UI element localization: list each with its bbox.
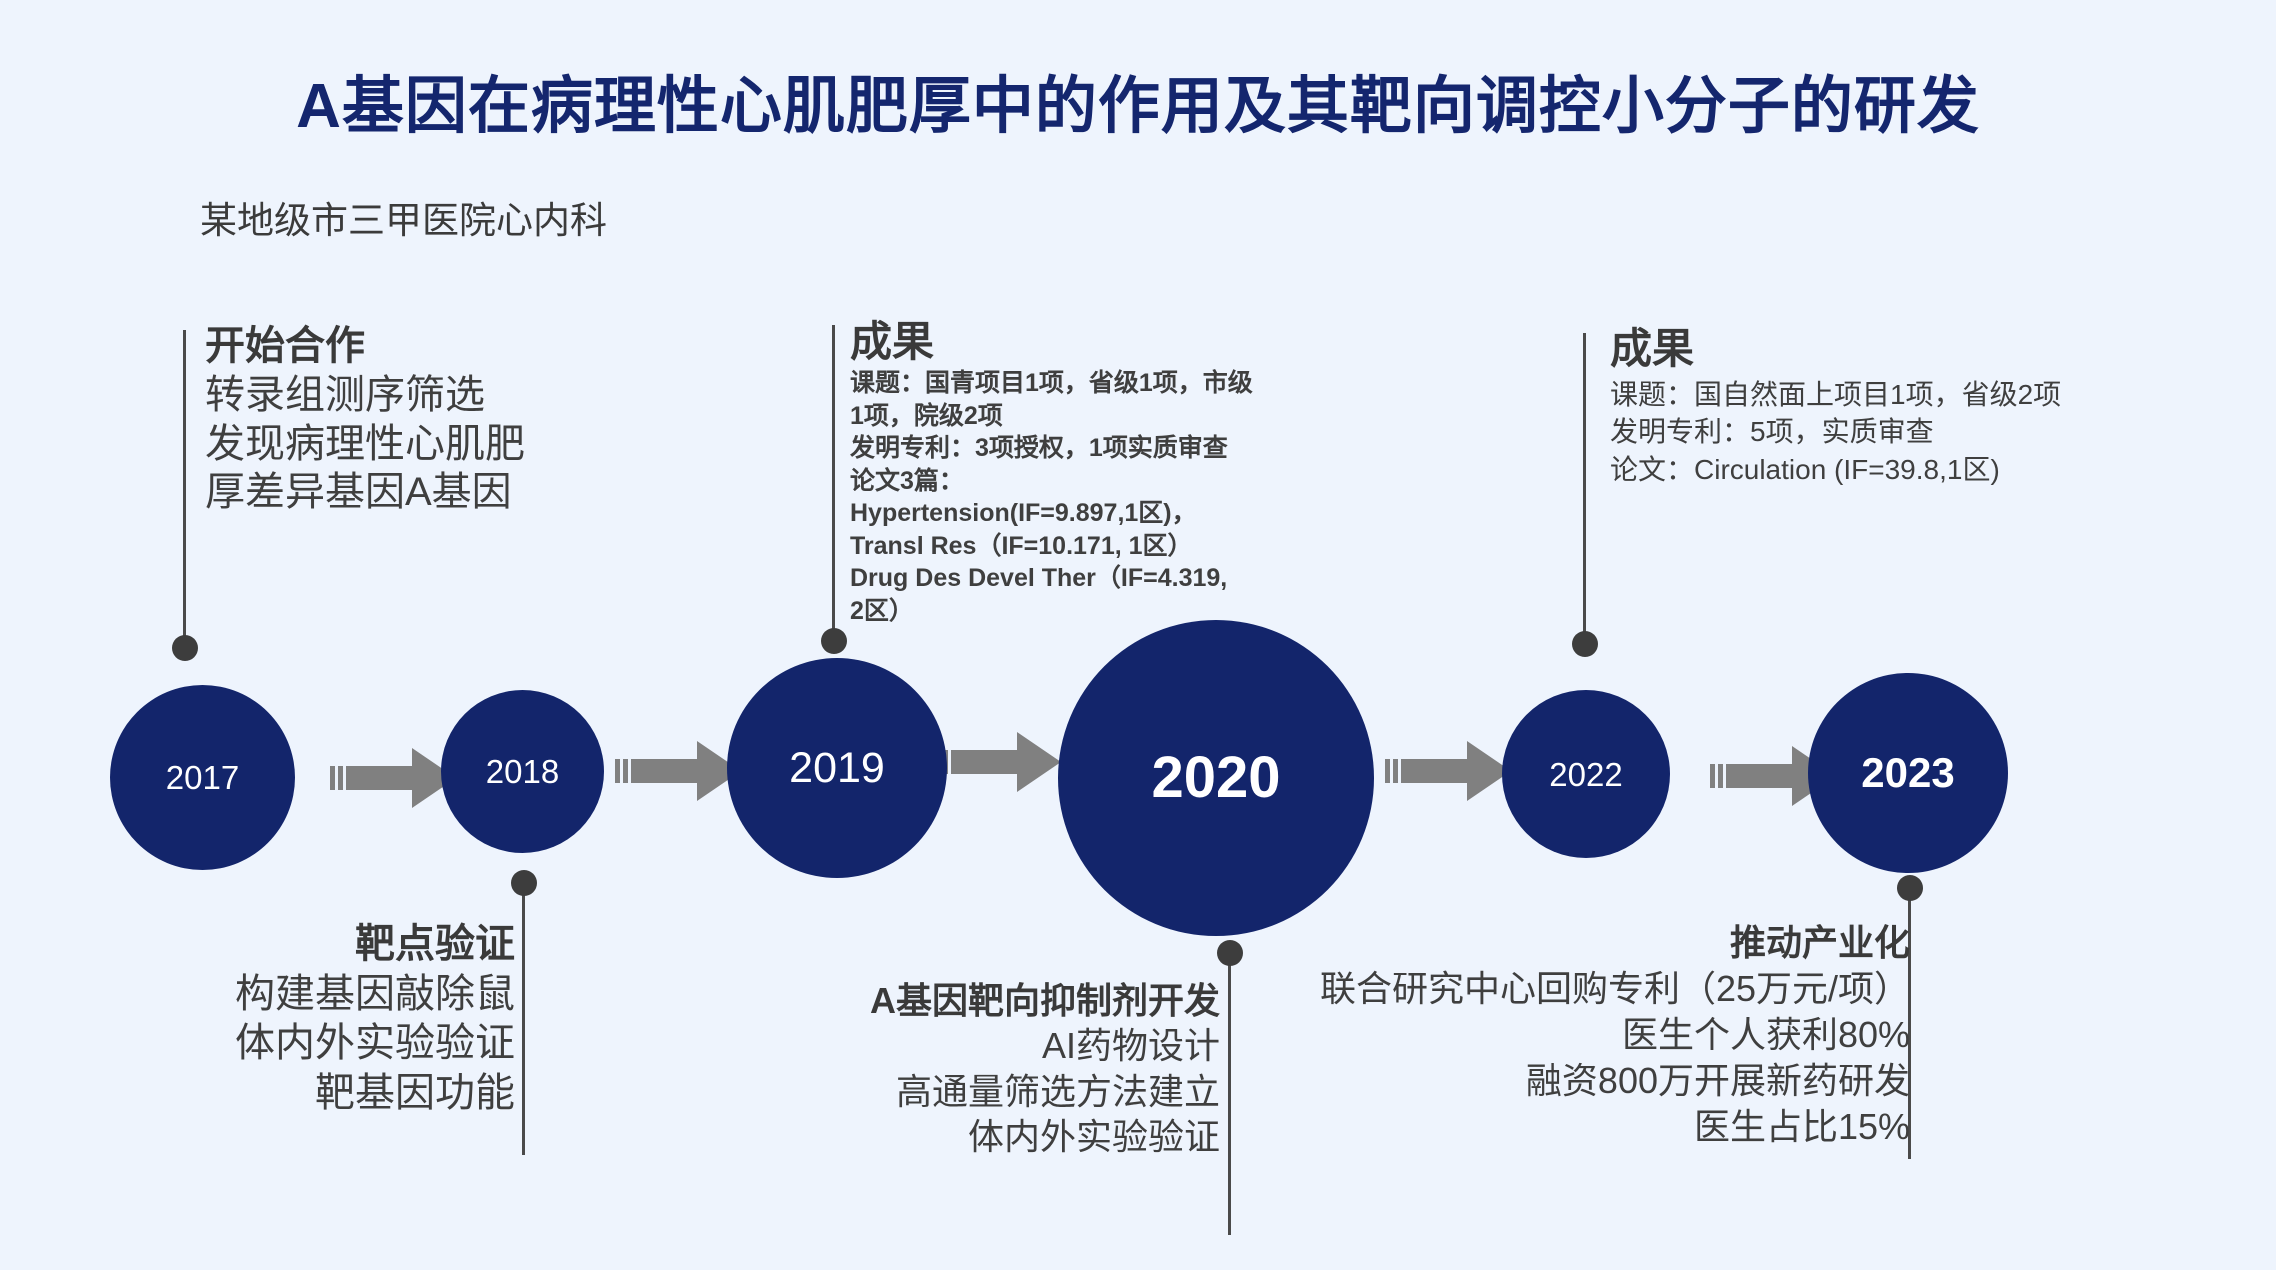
connector-dot xyxy=(821,628,847,654)
right-arrow-icon xyxy=(615,735,745,812)
callout-title: 成果 xyxy=(1610,325,2061,374)
callout-line: 发明专利：5项，实质审查 xyxy=(1610,413,2061,451)
right-arrow-icon xyxy=(1385,735,1515,812)
callout-line: 1项，院级2项 xyxy=(850,400,1253,433)
callout-line: Drug Des Devel Ther（IF=4.319, xyxy=(850,562,1253,595)
page-title: A基因在病理性心肌肥厚中的作用及其靶向调控小分子的研发 xyxy=(0,55,2276,145)
timeline-node-2022[interactable]: 2022 xyxy=(1502,690,1670,858)
callout-2017: 开始合作 转录组测序筛选 发现病理性心肌肥 厚差异基因A基因 xyxy=(205,322,525,517)
year-label: 2018 xyxy=(486,755,559,788)
callout-body: 课题：国自然面上项目1项，省级2项 发明专利：5项，实质审查 论文：Circul… xyxy=(1610,376,2061,489)
connector-line xyxy=(832,325,835,643)
timeline-node-2020[interactable]: 2020 xyxy=(1058,620,1374,936)
callout-title: 开始合作 xyxy=(205,322,525,371)
callout-line: 课题：国自然面上项目1项，省级2项 xyxy=(1610,376,2061,414)
callout-line: 构建基因敲除鼠 xyxy=(115,970,515,1020)
callout-title: 靶点验证 xyxy=(115,920,515,970)
callout-line: 融资800万开展新药研发 xyxy=(1245,1058,1910,1104)
year-label: 2022 xyxy=(1549,758,1622,791)
year-label: 2023 xyxy=(1861,752,1954,794)
year-label: 2017 xyxy=(166,761,239,794)
connector-dot xyxy=(1217,940,1243,966)
callout-2022: 成果 课题：国自然面上项目1项，省级2项 发明专利：5项，实质审查 论文：Cir… xyxy=(1610,325,2061,488)
year-label: 2019 xyxy=(789,747,885,790)
connector-line xyxy=(1228,952,1231,1235)
callout-line: Hypertension(IF=9.897,1区)， xyxy=(850,497,1253,530)
connector-dot xyxy=(1897,875,1923,901)
year-label: 2020 xyxy=(1151,749,1280,807)
callout-body: 构建基因敲除鼠 体内外实验验证 靶基因功能 xyxy=(115,970,515,1119)
callout-2019: 成果 课题：国青项目1项，省级1项，市级 1项，院级2项 发明专利：3项授权，1… xyxy=(850,318,1253,627)
connector-dot xyxy=(511,870,537,896)
connector-line xyxy=(1583,333,1586,645)
callout-title: A基因靶向抑制剂开发 xyxy=(690,978,1220,1023)
callout-line: 厚差异基因A基因 xyxy=(205,468,525,517)
callout-line: 医生占比15% xyxy=(1245,1104,1910,1150)
timeline-node-2019[interactable]: 2019 xyxy=(727,658,947,878)
callout-body: 课题：国青项目1项，省级1项，市级 1项，院级2项 发明专利：3项授权，1项实质… xyxy=(850,367,1253,627)
callout-line: 发现病理性心肌肥 xyxy=(205,420,525,469)
callout-title: 成果 xyxy=(850,318,1253,365)
callout-title: 推动产业化 xyxy=(1245,920,1910,966)
callout-line: 联合研究中心回购专利（25万元/项） xyxy=(1245,966,1910,1012)
timeline-node-2023[interactable]: 2023 xyxy=(1808,673,2008,873)
callout-body: AI药物设计 高通量筛选方法建立 体内外实验验证 xyxy=(690,1023,1220,1159)
callout-line: 发明专利：3项授权，1项实质审查 xyxy=(850,432,1253,465)
connector-dot xyxy=(1572,631,1598,657)
callout-line: 靶基因功能 xyxy=(115,1069,515,1119)
callout-line: 高通量筛选方法建立 xyxy=(690,1069,1220,1114)
timeline-slide: A基因在病理性心肌肥厚中的作用及其靶向调控小分子的研发 某地级市三甲医院心内科 xyxy=(0,0,2276,1270)
connector-line xyxy=(183,330,186,648)
callout-line: 课题：国青项目1项，省级1项，市级 xyxy=(850,367,1253,400)
connector-line xyxy=(522,880,525,1155)
callout-line: 医生个人获利80% xyxy=(1245,1012,1910,1058)
callout-line: 转录组测序筛选 xyxy=(205,371,525,420)
callout-line: 论文3篇： xyxy=(850,465,1253,498)
timeline-node-2017[interactable]: 2017 xyxy=(110,685,295,870)
page-subtitle: 某地级市三甲医院心内科 xyxy=(200,190,607,244)
callout-body: 转录组测序筛选 发现病理性心肌肥 厚差异基因A基因 xyxy=(205,371,525,517)
callout-line: 体内外实验验证 xyxy=(690,1114,1220,1159)
callout-line: AI药物设计 xyxy=(690,1023,1220,1068)
callout-2018: 靶点验证 构建基因敲除鼠 体内外实验验证 靶基因功能 xyxy=(115,920,515,1118)
callout-line: Transl Res（IF=10.171, 1区） xyxy=(850,530,1253,563)
callout-body: 联合研究中心回购专利（25万元/项） 医生个人获利80% 融资800万开展新药研… xyxy=(1245,966,1910,1150)
callout-2020: A基因靶向抑制剂开发 AI药物设计 高通量筛选方法建立 体内外实验验证 xyxy=(690,978,1220,1159)
callout-line: 体内外实验验证 xyxy=(115,1019,515,1069)
callout-line: 论文：Circulation (IF=39.8,1区) xyxy=(1610,451,2061,489)
callout-2023: 推动产业化 联合研究中心回购专利（25万元/项） 医生个人获利80% 融资800… xyxy=(1245,920,1910,1150)
connector-dot xyxy=(172,635,198,661)
right-arrow-icon xyxy=(935,726,1065,803)
callout-line: 2区） xyxy=(850,595,1253,628)
timeline-node-2018[interactable]: 2018 xyxy=(441,690,604,853)
